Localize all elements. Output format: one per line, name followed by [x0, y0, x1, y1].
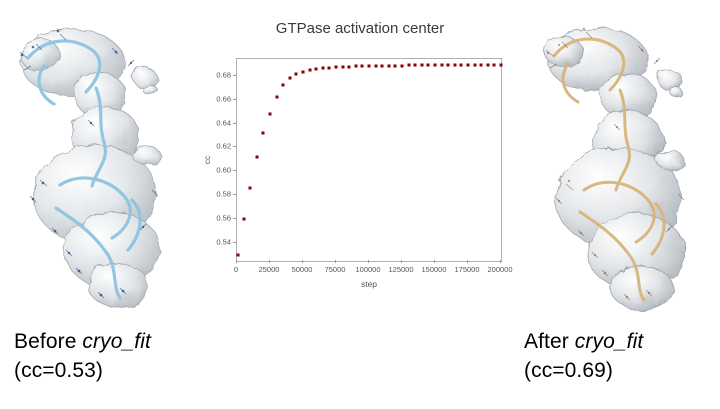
scatter-point [249, 187, 252, 190]
y-axis-tick-mark [233, 146, 236, 147]
x-axis-tick-label: 100000 [355, 265, 380, 274]
scatter-point [473, 63, 476, 66]
scatter-point [440, 64, 443, 67]
scatter-point [486, 63, 489, 66]
before-caption: Before cryo_fit (cc=0.53) [14, 327, 151, 385]
scatter-point [420, 64, 423, 67]
y-axis-tick-label: 0.66 [216, 94, 231, 103]
before-caption-cc: (cc=0.53) [14, 356, 151, 385]
x-axis-tick-mark [467, 260, 468, 263]
chart-y-axis-label: cc [202, 156, 212, 165]
x-axis-tick-mark [434, 260, 435, 263]
x-axis-tick-label: 75000 [325, 265, 346, 274]
scatter-point [348, 65, 351, 68]
before-caption-tool: cryo_fit [82, 330, 151, 353]
scatter-point [288, 77, 291, 80]
x-axis-tick-mark [269, 260, 270, 263]
scatter-point [493, 63, 496, 66]
scatter-point [335, 66, 338, 69]
y-axis-tick-label: 0.54 [216, 238, 231, 247]
cc-vs-step-chart: GTPase activation center cc step 0.540.5… [200, 8, 520, 308]
x-axis-tick-label: 150000 [421, 265, 446, 274]
scatter-point [368, 65, 371, 68]
y-axis-tick-mark [233, 218, 236, 219]
scatter-point [237, 254, 240, 257]
x-axis-tick-label: 125000 [388, 265, 413, 274]
scatter-point [255, 156, 258, 159]
scatter-point [282, 84, 285, 87]
scatter-point [295, 72, 298, 75]
scatter-point [315, 67, 318, 70]
scatter-point [447, 64, 450, 67]
x-axis-tick-mark [500, 260, 501, 263]
y-axis-tick-label: 0.60 [216, 166, 231, 175]
plot-area [236, 58, 502, 262]
scatter-point [453, 64, 456, 67]
before-structure-image [0, 0, 200, 320]
scatter-point [460, 64, 463, 67]
y-axis-tick-mark [233, 170, 236, 171]
y-axis-tick-label: 0.58 [216, 190, 231, 199]
scatter-point [407, 64, 410, 67]
after-caption-cc: (cc=0.69) [524, 356, 643, 385]
y-axis-tick-label: 0.68 [216, 70, 231, 79]
scatter-point [275, 96, 278, 99]
after-structure-image [520, 0, 720, 320]
scatter-point [321, 67, 324, 70]
after-caption-line1: After cryo_fit [524, 330, 643, 353]
y-axis-tick-label: 0.56 [216, 214, 231, 223]
x-axis-tick-mark [368, 260, 369, 263]
scatter-point [381, 64, 384, 67]
scatter-point [374, 64, 377, 67]
scatter-point [500, 63, 503, 66]
scatter-point [414, 64, 417, 67]
cryo-em-density-map-before-fitting [0, 0, 200, 320]
x-axis-tick-mark [335, 260, 336, 263]
scatter-series-cc [237, 59, 501, 261]
scatter-point [394, 64, 397, 67]
scatter-point [262, 132, 265, 135]
y-axis-tick-mark [233, 75, 236, 76]
y-axis-tick-mark [233, 194, 236, 195]
cryo-em-density-map-after-fitting [520, 0, 720, 320]
scatter-point [427, 64, 430, 67]
scatter-point [401, 64, 404, 67]
y-axis-tick-mark [233, 123, 236, 124]
scatter-point [302, 70, 305, 73]
x-axis-tick-label: 0 [234, 265, 238, 274]
scatter-point [480, 63, 483, 66]
x-axis-tick-mark [302, 260, 303, 263]
after-caption-prefix: After [524, 330, 575, 353]
scatter-point [354, 65, 357, 68]
scatter-point [361, 65, 364, 68]
chart-x-axis-label: step [236, 279, 502, 289]
y-axis-tick-label: 0.64 [216, 118, 231, 127]
x-axis-tick-mark [401, 260, 402, 263]
x-axis-tick-label: 50000 [292, 265, 313, 274]
x-axis-tick-label: 200000 [487, 265, 512, 274]
scatter-point [341, 65, 344, 68]
scatter-point [434, 64, 437, 67]
scatter-point [269, 112, 272, 115]
scatter-point [328, 66, 331, 69]
scatter-point [308, 68, 311, 71]
y-axis-tick-label: 0.62 [216, 142, 231, 151]
x-axis-tick-label: 25000 [259, 265, 280, 274]
after-caption: After cryo_fit (cc=0.69) [524, 327, 643, 385]
y-axis-tick-mark [233, 242, 236, 243]
x-axis-tick-label: 175000 [454, 265, 479, 274]
x-axis-tick-mark [236, 260, 237, 263]
scatter-point [467, 64, 470, 67]
y-axis-tick-mark [233, 99, 236, 100]
before-caption-prefix: Before [14, 330, 82, 353]
after-caption-tool: cryo_fit [575, 330, 644, 353]
before-caption-line1: Before cryo_fit [14, 330, 151, 353]
scatter-point [387, 64, 390, 67]
scatter-point [242, 218, 245, 221]
chart-title: GTPase activation center [200, 20, 520, 37]
